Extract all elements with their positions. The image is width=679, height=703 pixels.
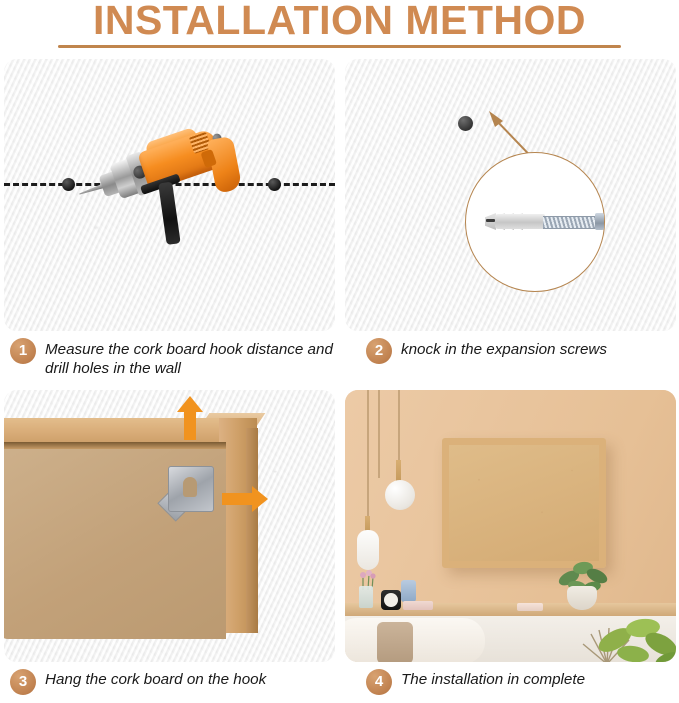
- title-underline-rule: [58, 45, 621, 48]
- keyhole-slot: [183, 477, 197, 497]
- drill-hole-mark-left: [62, 178, 75, 191]
- step-number-badge: 1: [10, 338, 36, 364]
- step-caption-text: Measure the cork board hook distance and…: [45, 338, 335, 378]
- desk-tray: [517, 603, 543, 611]
- expansion-anchor-and-screw: [485, 210, 609, 232]
- installation-method-infographic: INSTALLATION METHOD: [0, 0, 679, 703]
- floor-plant-icon: [585, 614, 676, 662]
- step-caption-text: The installation in complete: [401, 668, 585, 689]
- step-number-badge: 4: [366, 669, 392, 695]
- hanger-plate: [168, 466, 214, 512]
- sofa-cushion: [377, 622, 413, 662]
- step-3-illustration: [4, 390, 335, 662]
- step-caption-text: knock in the expansion screws: [401, 338, 607, 359]
- step-4-caption: 4 The installation in complete: [366, 668, 676, 695]
- page-title: INSTALLATION METHOD: [0, 0, 679, 42]
- pendant-cord: [378, 390, 380, 478]
- blue-bottle-decor: [401, 580, 416, 602]
- clock-face: [384, 593, 398, 607]
- step-3-caption: 3 Hang the cork board on the hook: [10, 668, 335, 695]
- step-number-badge: 3: [10, 669, 36, 695]
- header: INSTALLATION METHOD: [0, 0, 679, 54]
- pendant-rod: [396, 460, 401, 482]
- step-1-illustration: [4, 59, 335, 331]
- frame-inner-shadow: [4, 442, 226, 449]
- drill-hole-mark: [458, 116, 473, 131]
- arrow-right-icon: [222, 485, 268, 513]
- arrow-up-icon: [176, 396, 204, 440]
- screw-head: [595, 213, 604, 230]
- screw-thread: [543, 216, 597, 229]
- wood-frame-right-edge: [246, 428, 258, 633]
- pendant-globe-light: [385, 480, 415, 510]
- anchor-tip-slot: [486, 219, 495, 222]
- step-number-badge: 2: [366, 338, 392, 364]
- stacked-books: [403, 601, 433, 610]
- step-1-caption: 1 Measure the cork board hook distance a…: [10, 338, 335, 378]
- sofa-bench: [345, 618, 485, 662]
- flower-vase: [359, 586, 373, 608]
- anchor-plug-body: [495, 214, 545, 229]
- pendant-cord: [398, 390, 400, 462]
- desk-clock: [381, 590, 401, 610]
- drill-side-handle: [158, 182, 180, 245]
- step-caption-text: Hang the cork board on the hook: [45, 668, 266, 689]
- pendant-cylinder-light: [357, 530, 379, 570]
- mounted-cork-board: [442, 438, 606, 568]
- step-2-caption: 2 knock in the expansion screws: [366, 338, 676, 364]
- step-2-illustration: [345, 59, 676, 331]
- step-4-illustration: [345, 390, 676, 662]
- pendant-cord: [367, 390, 369, 518]
- drill-hole-mark-right: [268, 178, 281, 191]
- cork-surface: [449, 445, 599, 561]
